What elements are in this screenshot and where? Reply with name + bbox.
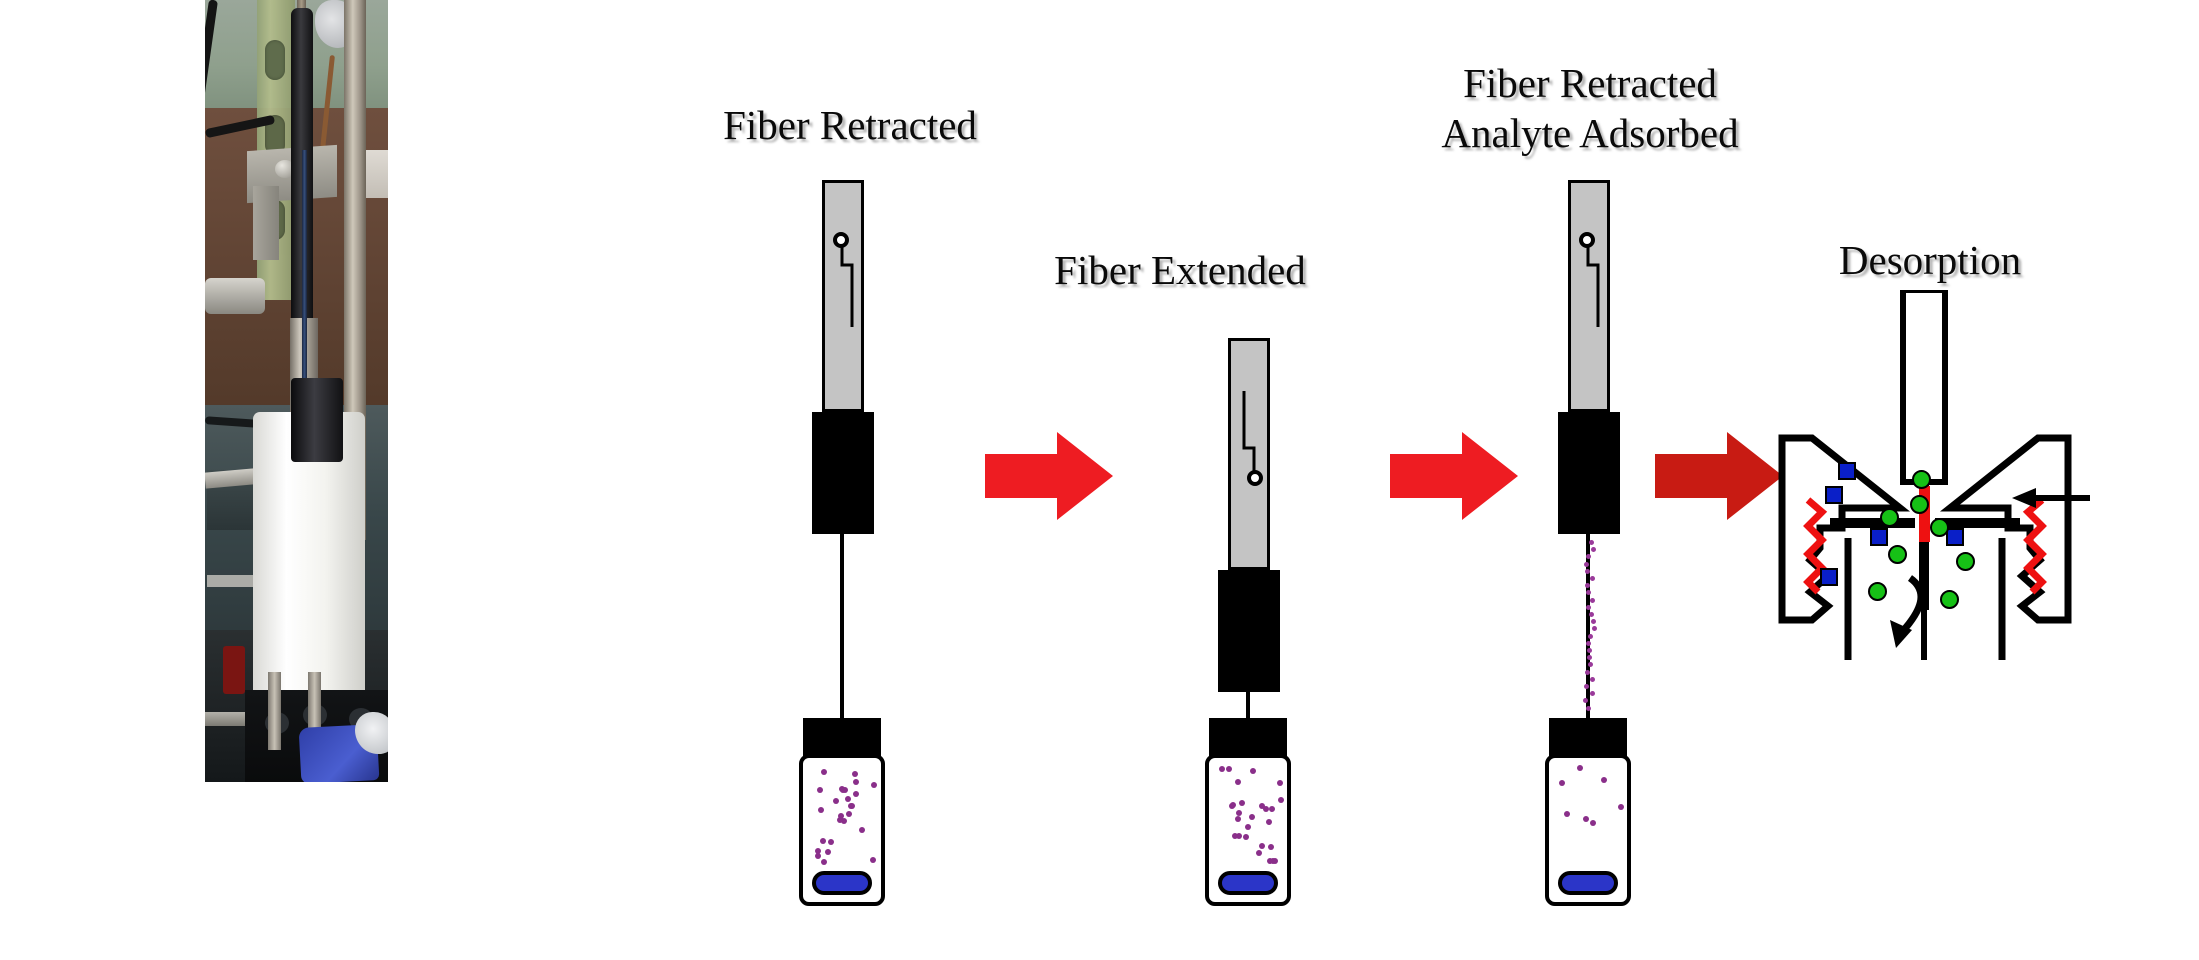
analyte-molecule [853, 791, 859, 797]
adsorbed-analyte-molecule [1586, 641, 1591, 646]
analyte-molecule [1235, 779, 1241, 785]
adsorbed-analyte-molecule [1585, 569, 1590, 574]
adsorbed-analyte-molecule [1589, 540, 1594, 545]
photo-red-object [223, 646, 245, 694]
analyte-molecule [1269, 806, 1275, 812]
step-4-label: Desorption [1790, 235, 2070, 285]
step-3-plunger-knob[interactable] [1579, 232, 1595, 248]
analyte-molecule [1266, 819, 1272, 825]
step-2-plunger-knob[interactable] [1247, 470, 1263, 486]
photo-black-nut [291, 378, 343, 462]
step-1-plunger-slot [822, 180, 864, 412]
adsorbed-analyte-molecule [1590, 598, 1595, 603]
analyte-molecule [1583, 816, 1589, 822]
adsorbed-analyte-molecule [1587, 648, 1592, 653]
analyte-flow-arrow [1890, 578, 1921, 648]
adsorbed-analyte-molecule [1586, 706, 1591, 711]
desorbed-molecule-square [1825, 486, 1843, 504]
adsorbed-analyte-molecule [1584, 562, 1589, 567]
adsorbed-analyte-molecule [1586, 605, 1591, 610]
adsorbed-analyte-molecule [1585, 583, 1590, 588]
analyte-molecule [849, 803, 855, 809]
analyte-molecule [1577, 765, 1583, 771]
analyte-molecule [1270, 858, 1276, 864]
analyte-molecule [1245, 824, 1251, 830]
step-3-label-line-1: Fiber Retracted [1420, 58, 1760, 108]
analyte-molecule [837, 817, 843, 823]
step-3-stir-bar [1558, 871, 1618, 895]
adsorbed-analyte-molecule [1590, 691, 1595, 696]
photo-valve-fitting [205, 278, 265, 314]
analyte-molecule [820, 838, 826, 844]
adsorbed-analyte-molecule [1587, 655, 1592, 660]
septum-left [1830, 518, 1915, 528]
step-2-barrel [1218, 570, 1280, 692]
analyte-molecule [1259, 803, 1265, 809]
adsorbed-analyte-molecule [1591, 619, 1596, 624]
needle-above-port [1903, 290, 1945, 482]
needle-shaft-lower [1921, 602, 1927, 660]
step-3-label-line-2: Analyte Adsorbed [1420, 108, 1760, 158]
analyte-molecule [840, 787, 846, 793]
desorbed-molecule-circle [1868, 582, 1887, 601]
analyte-molecule [845, 796, 851, 802]
desorbed-molecule-circle [1912, 470, 1931, 489]
photo-metal-bracket [253, 186, 279, 260]
desorbed-molecule-circle [1888, 545, 1907, 564]
analyte-molecule [1259, 843, 1265, 849]
desorbed-molecule-square [1870, 528, 1888, 546]
adsorbed-analyte-molecule [1591, 547, 1596, 552]
step-3-plunger-slot [1568, 180, 1610, 412]
injector-right-body [1950, 438, 2068, 620]
analyte-molecule [1236, 810, 1242, 816]
step-2-plunger-slot [1228, 338, 1270, 570]
desorbed-molecule-circle [1930, 518, 1949, 537]
step-1-label: Fiber Retracted [690, 100, 1010, 150]
adsorbed-analyte-molecule [1585, 670, 1590, 675]
step-2-label: Fiber Extended [1020, 245, 1340, 295]
step-3-vial-cap [1549, 718, 1627, 758]
desorbed-molecule-square [1820, 568, 1838, 586]
analyte-molecule [1219, 766, 1225, 772]
adsorbed-analyte-molecule [1588, 662, 1593, 667]
adsorbed-analyte-molecule [1586, 590, 1591, 595]
step-1-barrel [812, 412, 874, 534]
spme-apparatus-photograph [205, 0, 388, 782]
step-1-stir-bar [812, 871, 872, 895]
analyte-molecule [821, 859, 827, 865]
arrow-1 [985, 432, 1115, 520]
adsorbed-analyte-molecule [1590, 576, 1595, 581]
desorbed-molecule-circle [1910, 495, 1929, 514]
analyte-molecule [833, 798, 839, 804]
desorbed-molecule-circle [1880, 508, 1899, 527]
figure-canvas: Fiber Retracted Fiber Extended [0, 0, 2199, 960]
arrow-2 [1390, 432, 1520, 520]
step-3-barrel [1558, 412, 1620, 534]
adsorbed-analyte-molecule [1589, 612, 1594, 617]
analyte-molecule [859, 827, 865, 833]
desorbed-molecule-circle [1956, 552, 1975, 571]
photo-metal-post [268, 672, 281, 750]
adsorbed-analyte-molecule [1590, 677, 1595, 682]
step-1-plunger-knob[interactable] [833, 232, 849, 248]
desorbed-molecule-square [1838, 462, 1856, 480]
step-1-vial-cap [803, 718, 881, 758]
step-2-vial-cap [1209, 718, 1287, 758]
step-1-needle [840, 534, 844, 718]
photo-caution-label [207, 575, 257, 587]
adsorbed-analyte-molecule [1592, 626, 1597, 631]
adsorbed-analyte-molecule [1588, 634, 1593, 639]
analyte-molecule [815, 853, 821, 859]
desorbed-molecule-circle [1940, 590, 1959, 609]
analyte-molecule [818, 807, 824, 813]
desorption-injection-port [1760, 290, 2090, 660]
photo-plate-hole [265, 40, 285, 80]
desorbed-molecule-square [1946, 528, 1964, 546]
step-2-stir-bar [1218, 871, 1278, 895]
analyte-molecule [846, 811, 852, 817]
analyte-molecule [1277, 780, 1283, 786]
